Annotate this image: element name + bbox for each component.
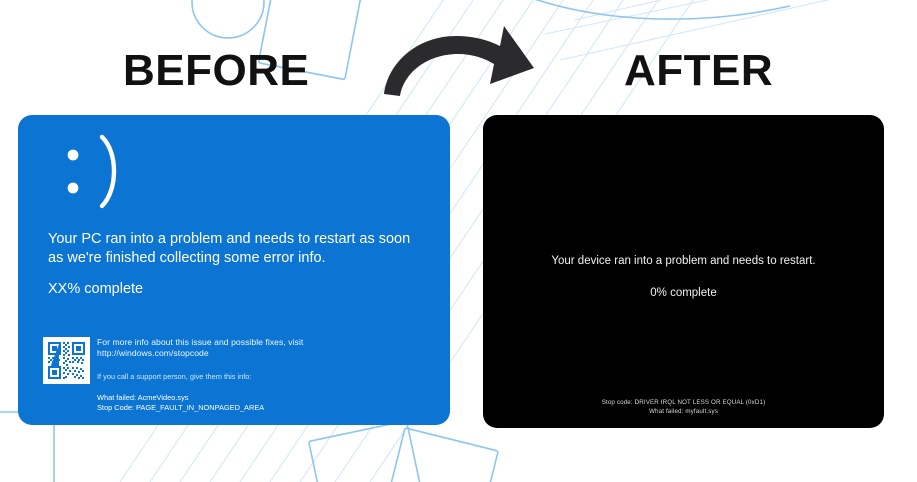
bsod-after-footer: Stop code: DRIVER IRQL NOT LESS OR EQUAL…	[483, 398, 884, 416]
bsod-before-message: Your PC ran into a problem and needs to …	[48, 230, 428, 268]
slide-canvas: BEFORE AFTER Your PC ran into a problem …	[0, 0, 917, 482]
bsod-after-screen: Your device ran into a problem and needs…	[483, 115, 884, 428]
heading-before: BEFORE	[123, 46, 309, 96]
bsod-before-progress: XX% complete	[48, 281, 143, 297]
qr-code-icon	[43, 337, 90, 384]
bsod-after-what-failed: What failed: myfault.sys	[483, 407, 884, 416]
bsod-before-info-block: For more info about this issue and possi…	[97, 337, 427, 413]
bsod-after-message: Your device ran into a problem and needs…	[483, 255, 884, 267]
sad-face-icon	[62, 134, 136, 210]
heading-after: AFTER	[624, 46, 773, 96]
bsod-before-detail-block: What failed: AcmeVideo.sys Stop Code: PA…	[97, 393, 427, 413]
bsod-after-stop-code: Stop code: DRIVER IRQL NOT LESS OR EQUAL…	[483, 398, 884, 407]
bsod-after-progress: 0% complete	[483, 287, 884, 299]
curved-arrow-right-icon	[378, 22, 538, 102]
bsod-before-support-line: If you call a support person, give them …	[97, 371, 427, 382]
bsod-before-stop-code: Stop Code: PAGE_FAULT_IN_NONPAGED_AREA	[97, 403, 427, 413]
bsod-before-what-failed: What failed: AcmeVideo.sys	[97, 393, 427, 403]
bsod-before-stopcode-url[interactable]: http://windows.com/stopcode	[97, 348, 427, 359]
bsod-before-screen: Your PC ran into a problem and needs to …	[18, 115, 450, 425]
bsod-before-info-line-1: For more info about this issue and possi…	[97, 337, 427, 348]
